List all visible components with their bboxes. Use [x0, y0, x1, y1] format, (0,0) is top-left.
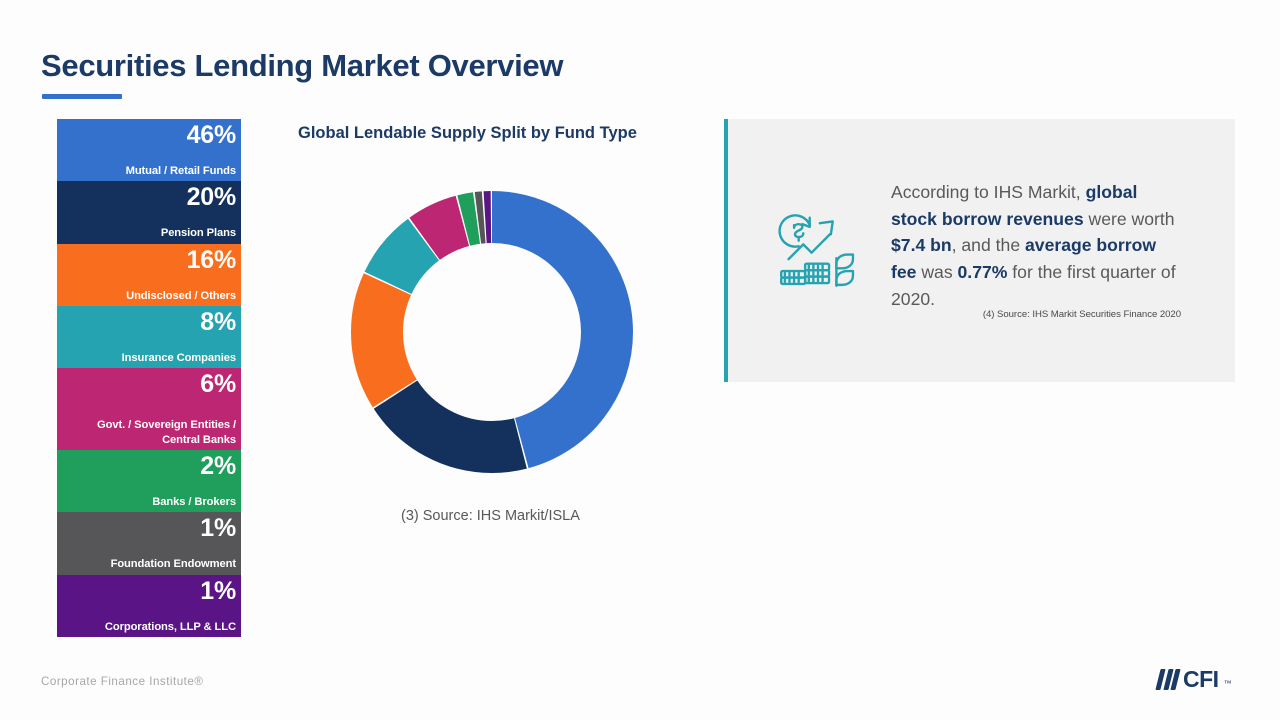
callout-text: According to IHS Markit, global stock bo… — [891, 179, 1179, 313]
legend-item-percent: 6% — [200, 370, 236, 398]
legend-item: 1%Corporations, LLP & LLC — [57, 575, 241, 637]
chart-source-note: (3) Source: IHS Markit/ISLA — [401, 508, 580, 524]
legend-item: 46%Mutual / Retail Funds — [57, 119, 241, 181]
callout-text-run: were worth — [1084, 209, 1175, 229]
cfi-logo-word: CFI — [1183, 668, 1219, 691]
callout-text-run: , and the — [952, 235, 1025, 255]
legend-item: 8%Insurance Companies — [57, 306, 241, 368]
donut-chart-svg — [350, 190, 634, 474]
legend-item-percent: 1% — [200, 577, 236, 605]
growth-money-plant-icon — [772, 203, 864, 295]
cfi-bars-icon — [1158, 669, 1178, 690]
callout-text-run: was — [916, 262, 957, 282]
legend-item: 2%Banks / Brokers — [57, 450, 241, 512]
legend-item-label: Banks / Brokers — [152, 495, 236, 509]
callout-source-note: (4) Source: IHS Markit Securities Financ… — [891, 309, 1181, 320]
legend-item-percent: 46% — [187, 121, 236, 149]
insight-callout-box: According to IHS Markit, global stock bo… — [724, 119, 1235, 382]
chart-heading: Global Lendable Supply Split by Fund Typ… — [298, 124, 637, 143]
legend-item: 16%Undisclosed / Others — [57, 244, 241, 306]
legend-item: 1%Foundation Endowment — [57, 512, 241, 574]
legend-item-percent: 8% — [200, 308, 236, 336]
legend-item-label: Insurance Companies — [122, 351, 236, 365]
legend-item: 20%Pension Plans — [57, 181, 241, 243]
cfi-logo: CFI ™ — [1158, 668, 1232, 691]
page-title: Securities Lending Market Overview — [41, 48, 563, 84]
slide-canvas: Securities Lending Market Overview 46%Mu… — [0, 0, 1280, 720]
legend-item-label: Govt. / Sovereign Entities / Central Ban… — [62, 418, 236, 447]
legend-item-label: Undisclosed / Others — [126, 289, 236, 303]
callout-text-run: According to IHS Markit, — [891, 182, 1086, 202]
callout-text-emphasis: 0.77% — [958, 262, 1008, 282]
legend-item-label: Mutual / Retail Funds — [126, 164, 236, 178]
legend-item-percent: 20% — [187, 183, 236, 211]
callout-text-emphasis: $7.4 bn — [891, 235, 952, 255]
legend-item: 6%Govt. / Sovereign Entities / Central B… — [57, 368, 241, 450]
legend-item-percent: 1% — [200, 514, 236, 542]
trademark-symbol: ™ — [1224, 679, 1232, 691]
title-underline-accent — [42, 94, 122, 99]
legend-item-percent: 16% — [187, 246, 236, 274]
legend-item-label: Foundation Endowment — [111, 557, 236, 571]
donut-chart — [350, 190, 634, 474]
legend-item-label: Corporations, LLP & LLC — [105, 620, 236, 634]
legend-item-label: Pension Plans — [161, 226, 236, 240]
footer-brand-text: Corporate Finance Institute® — [41, 675, 203, 688]
legend-item-percent: 2% — [200, 452, 236, 480]
fund-type-legend: 46%Mutual / Retail Funds20%Pension Plans… — [57, 119, 241, 637]
